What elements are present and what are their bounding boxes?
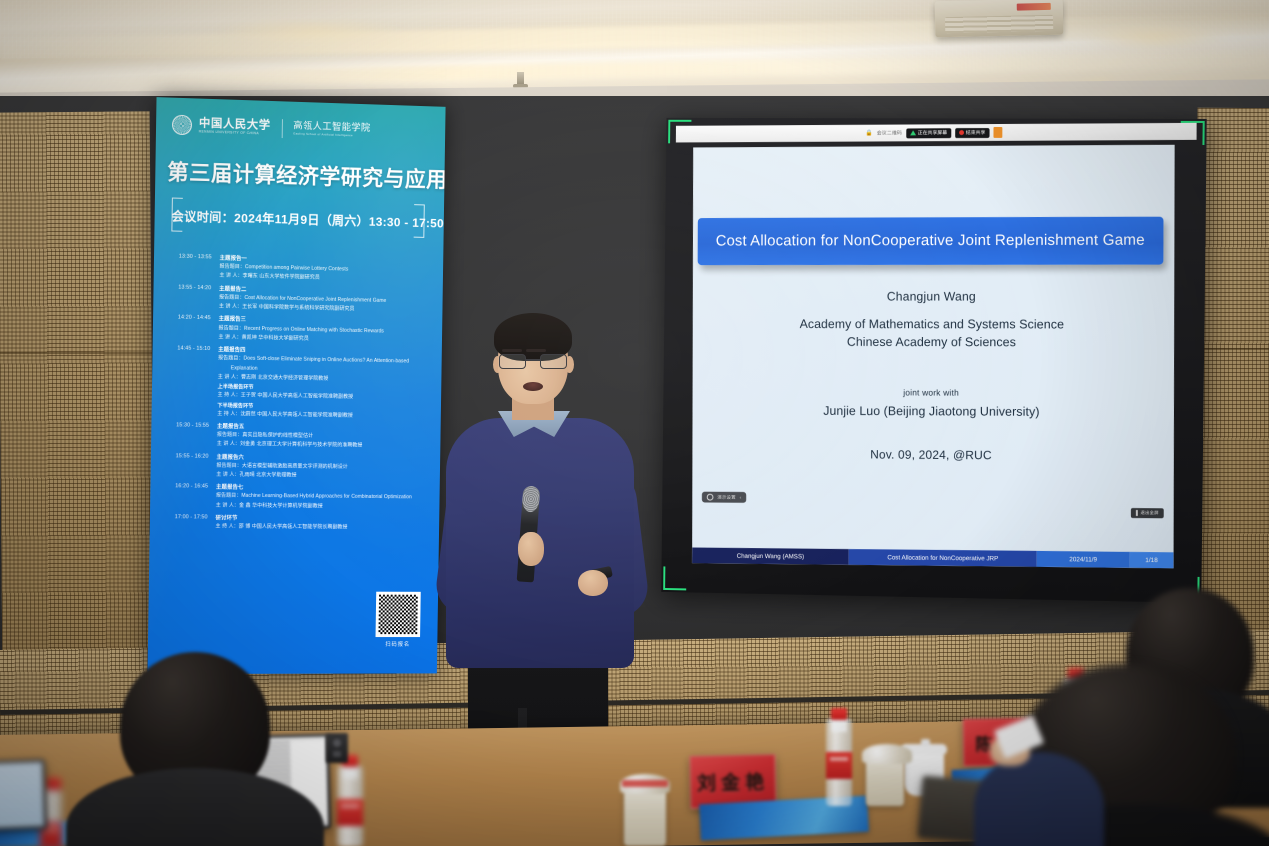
agenda-time: 16:20 - 16:45	[158, 482, 216, 511]
water-bottle	[337, 765, 363, 846]
panel-seam	[1196, 348, 1269, 350]
agenda-time: 15:30 - 15:55	[159, 421, 217, 450]
qr-code-icon	[376, 592, 421, 637]
glasses-lens	[540, 354, 567, 369]
agenda-time: 14:20 - 14:45	[161, 314, 219, 344]
slide-canvas: Cost Allocation for NonCooperative Joint…	[692, 145, 1175, 569]
toolbar-status-text: 会议二维码	[877, 129, 902, 136]
agenda-slot: 14:45 - 15:10 主题报告四 报告题目：Does Soft-close…	[159, 344, 437, 422]
microphone-grille	[522, 486, 541, 513]
agenda-session: 主题报告六	[216, 452, 435, 462]
slide-coauthor: Junjie Luo (Beijing Jiaotong University)	[693, 403, 1174, 419]
laptop-screen	[0, 762, 44, 828]
chevron-left-icon[interactable]: ‹	[740, 494, 742, 500]
presenter-eyebrow	[502, 349, 522, 352]
agenda-topic: 报告题目：Machine Learning-Based Hybrid Appro…	[216, 493, 435, 502]
agenda-speaker: 主 讲 人：刘金勇 北京理工大学计算机科学与技术学院的准聘教授	[217, 441, 436, 451]
logo-divider	[281, 119, 282, 138]
agenda-slot: 13:55 - 14:20 主题报告二 报告题目：Cost Allocation…	[161, 283, 438, 317]
slide-footer-page: 1/18	[1129, 552, 1173, 568]
audience-shoulders	[66, 768, 324, 846]
gear-icon	[707, 494, 714, 501]
more-options-icon[interactable]	[993, 127, 1002, 138]
agenda-slot: 14:20 - 14:45 主题报告三 报告题目：Recent Progress…	[161, 314, 438, 348]
exit-icon	[1136, 510, 1138, 516]
bottle-cap	[45, 778, 61, 790]
bottle-label	[826, 752, 852, 779]
screen-share-toolbar[interactable]: 🔒 会议二维码 正在共享屏幕 结束共享	[676, 123, 1197, 143]
bottle-neck	[831, 720, 847, 732]
panel-seam	[0, 352, 152, 354]
agenda-session: 主题报告五	[217, 422, 436, 433]
cup-tab	[921, 739, 930, 746]
water-bottle	[826, 718, 852, 806]
snack-band	[622, 780, 668, 787]
qr-caption: 扫码报名	[375, 640, 420, 648]
slide-affiliation-1: Academy of Mathematics and Systems Scien…	[693, 316, 1174, 334]
registration-qr[interactable]: 扫码报名	[375, 592, 420, 648]
poster-logo: 中国人民大学 RENMIN UNIVERSITY OF CHINA 高瓴人工智能…	[172, 115, 371, 141]
presenter-eyebrow	[526, 349, 546, 352]
presenter-hand-right	[578, 570, 608, 596]
slide-footer-center: Cost Allocation for NonCooperative JRP	[849, 549, 1037, 567]
wood-acoustic-panel	[0, 111, 154, 672]
audience-member	[974, 718, 1104, 846]
ceiling-glow	[210, 20, 410, 42]
bottle-label	[337, 799, 363, 826]
snack-cup	[866, 754, 904, 806]
exit-fullscreen-badge[interactable]: 退出全屏	[1131, 508, 1164, 518]
presentation-settings-control[interactable]: 演示设置 ‹	[702, 492, 746, 503]
share-screen-chip[interactable]: 正在共享屏幕	[906, 128, 951, 138]
control-button-icon[interactable]	[333, 751, 341, 757]
share-icon	[910, 130, 916, 135]
slide-affiliation-2: Chinese Academy of Sciences	[693, 334, 1174, 353]
poster-time-text: 会议时间：2024年11月9日（周六）13:30 - 17:50	[171, 207, 424, 231]
agenda-topic: 报告题目：大语言模型辅助激励高质量文字评测的机制设计	[216, 462, 435, 471]
bottle-neck	[342, 767, 358, 779]
photo-scene: 中国人民大学 RENMIN UNIVERSITY OF CHINA 高瓴人工智能…	[0, 0, 1269, 846]
poster-title: 第三届计算经济学研究与应用研讨会	[167, 155, 434, 193]
agenda-slot: 15:30 - 15:55 主题报告五 报告题目：真实且隐私保护的线性模型估计 …	[159, 421, 436, 453]
agenda-topic: 报告题目：真实且隐私保护的线性模型估计	[217, 432, 436, 442]
agenda-time: 17:00 - 17:50	[158, 513, 216, 533]
poster-agenda: 13:30 - 13:55 主题报告一 报告题目：Competition amo…	[158, 252, 439, 536]
agenda-time: 13:55 - 14:20	[161, 283, 219, 313]
stop-chip-label: 结束共享	[966, 129, 986, 136]
record-icon	[959, 130, 964, 135]
audience-member	[60, 652, 320, 846]
audience-shoulders	[974, 752, 1104, 846]
lock-icon: 🔒	[866, 130, 873, 137]
sprinkler-icon	[517, 72, 524, 88]
agenda-speaker: 主 持 人：邵 博 中国人民大学高瓴人工智能学院长聘副教授	[215, 524, 434, 533]
snack-foil	[862, 744, 912, 764]
agenda-slot: 17:00 - 17:50 研讨环节 主 持 人：邵 博 中国人民大学高瓴人工智…	[158, 513, 435, 534]
agenda-time: 14:45 - 15:10	[159, 344, 218, 419]
slide-joint-label: joint work with	[693, 386, 1174, 398]
bottle-cap	[831, 708, 847, 720]
control-button-icon[interactable]	[333, 739, 341, 747]
slide-footer-left: Changjun Wang (AMSS)	[692, 548, 849, 565]
agenda-speaker: 主 讲 人：黄凯坤 华中科技大学副研究员	[218, 334, 437, 345]
slide-date-venue: Nov. 09, 2024, @RUC	[692, 446, 1173, 463]
slide-footer: Changjun Wang (AMSS) Cost Allocation for…	[692, 548, 1173, 569]
university-seal-icon	[172, 115, 192, 136]
wall-control-panel[interactable]	[326, 733, 348, 763]
exit-fullscreen-label: 退出全屏	[1140, 510, 1158, 516]
agenda-slot: 15:55 - 16:20 主题报告六 报告题目：大语言模型辅助激励高质量文字评…	[158, 452, 435, 483]
corner-marker-icon	[663, 566, 686, 590]
glasses-bridge	[526, 359, 540, 361]
glasses-icon	[498, 354, 568, 370]
agenda-slot: 16:20 - 16:45 主题报告七 报告题目：Machine Learnin…	[158, 482, 435, 513]
agenda-time: 15:55 - 16:20	[158, 452, 216, 481]
ceiling-projector-unit	[935, 0, 1064, 37]
ceiling-unit-grille	[945, 15, 1053, 33]
share-chip-label: 正在共享屏幕	[918, 129, 947, 136]
slide-body: Changjun Wang Academy of Mathematics and…	[692, 290, 1174, 464]
slide-author: Changjun Wang	[693, 290, 1174, 304]
stop-share-chip[interactable]: 结束共享	[955, 128, 989, 138]
presentation-settings-label: 演示设置	[717, 494, 735, 500]
agenda-session: 主题报告七	[216, 483, 435, 493]
presenter-hand-left	[518, 532, 544, 566]
presenter-mouth	[523, 382, 543, 391]
placard-name: 刘金艳	[697, 767, 770, 796]
slide-title-band: Cost Allocation for NonCooperative Joint…	[698, 217, 1164, 265]
agenda-session: 研讨环节	[216, 513, 435, 523]
ceiling-unit-badge	[1017, 3, 1051, 11]
slide-footer-date: 2024/11/9	[1037, 551, 1130, 568]
ceiling-glow	[1080, 24, 1230, 50]
slide-title: Cost Allocation for NonCooperative Joint…	[716, 232, 1145, 251]
poster-display-screen[interactable]: 中国人民大学 RENMIN UNIVERSITY OF CHINA 高瓴人工智能…	[147, 97, 445, 674]
laptop	[0, 759, 47, 831]
presentation-display[interactable]: 🔒 会议二维码 正在共享屏幕 结束共享 Cost Allocation for …	[661, 118, 1207, 603]
glasses-lens	[499, 354, 526, 369]
agenda-host-person: 主 持 人：沈蔚然 中国人民大学高瓴人工智能学院准聘副教授	[217, 410, 436, 420]
agenda-time: 13:30 - 13:55	[162, 252, 220, 282]
agenda-speaker: 主 讲 人：金 鑫 华中科技大学计算机学院副教授	[216, 502, 435, 511]
poster-time-box: 会议时间：2024年11月9日（周六）13:30 - 17:50	[171, 198, 424, 238]
agenda-speaker: 主 讲 人：孔雨晴 北京大学助理教授	[216, 472, 435, 481]
agenda-slot: 13:30 - 13:55 主题报告一 报告题目：Competition amo…	[162, 252, 439, 287]
snack-cup	[624, 784, 666, 846]
